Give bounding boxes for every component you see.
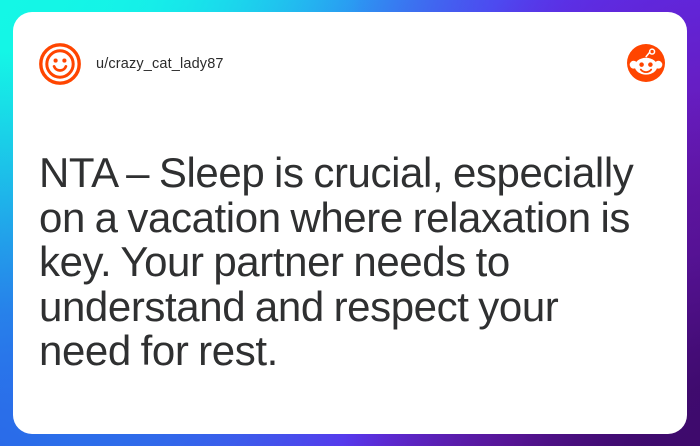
reddit-snoo-icon [627,44,665,82]
gradient-background: u/crazy_cat_lady87 NTA – Sleep is crucia… [0,0,700,446]
smiley-face-icon [39,43,81,85]
post-body-text: NTA – Sleep is crucial, especially on a … [39,151,653,374]
username-label: u/crazy_cat_lady87 [96,43,224,85]
card-header: u/crazy_cat_lady87 [13,12,687,108]
card-body: NTA – Sleep is crucial, especially on a … [39,151,653,374]
reddit-comment-card: u/crazy_cat_lady87 NTA – Sleep is crucia… [13,12,687,434]
